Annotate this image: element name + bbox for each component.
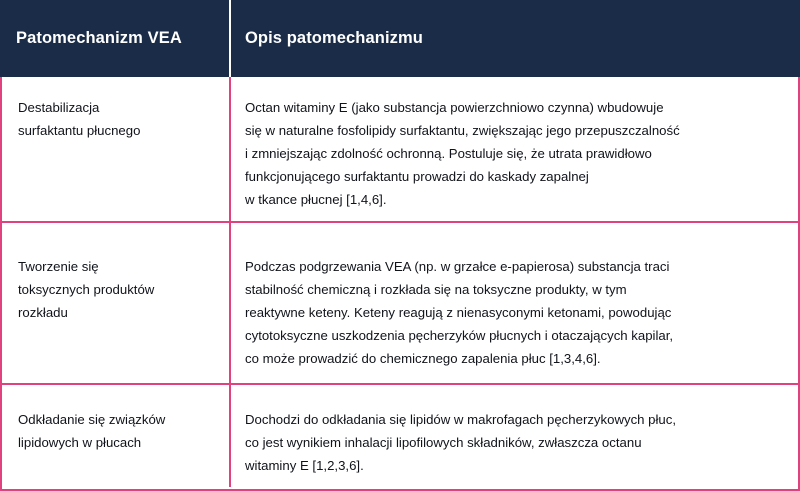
row-description-text: Octan witaminy E (jako substancja powier…	[245, 77, 784, 211]
table-body: Destabilizacja surfaktantu płucnego Octa…	[0, 77, 800, 491]
column-header-patomechanizm: Patomechanizm VEA	[0, 0, 229, 77]
row-label-cell: Odkładanie się związków lipidowych w płu…	[2, 385, 231, 487]
row-description-text: Dochodzi do odkładania się lipidów w mak…	[245, 385, 784, 477]
row-description-cell: Octan witaminy E (jako substancja powier…	[231, 77, 798, 221]
table-row: Tworzenie się toksycznych produktów rozk…	[2, 223, 798, 385]
row-description-text: Podczas podgrzewania VEA (np. w grzałce …	[245, 223, 784, 370]
row-label-cell: Tworzenie się toksycznych produktów rozk…	[2, 223, 231, 383]
column-header-opis: Opis patomechanizmu	[231, 0, 800, 77]
row-description-cell: Podczas podgrzewania VEA (np. w grzałce …	[231, 223, 798, 383]
row-description-cell: Dochodzi do odkładania się lipidów w mak…	[231, 385, 798, 487]
row-label-text: Tworzenie się toksycznych produktów rozk…	[18, 223, 215, 324]
table-row: Odkładanie się związków lipidowych w płu…	[2, 385, 798, 487]
row-label-text: Destabilizacja surfaktantu płucnego	[18, 77, 215, 142]
table-row: Destabilizacja surfaktantu płucnego Octa…	[2, 77, 798, 223]
row-label-text: Odkładanie się związków lipidowych w płu…	[18, 385, 215, 454]
table-header-row: Patomechanizm VEA Opis patomechanizmu	[0, 0, 800, 77]
row-label-cell: Destabilizacja surfaktantu płucnego	[2, 77, 231, 221]
patomechanizm-table: Patomechanizm VEA Opis patomechanizmu De…	[0, 0, 800, 491]
